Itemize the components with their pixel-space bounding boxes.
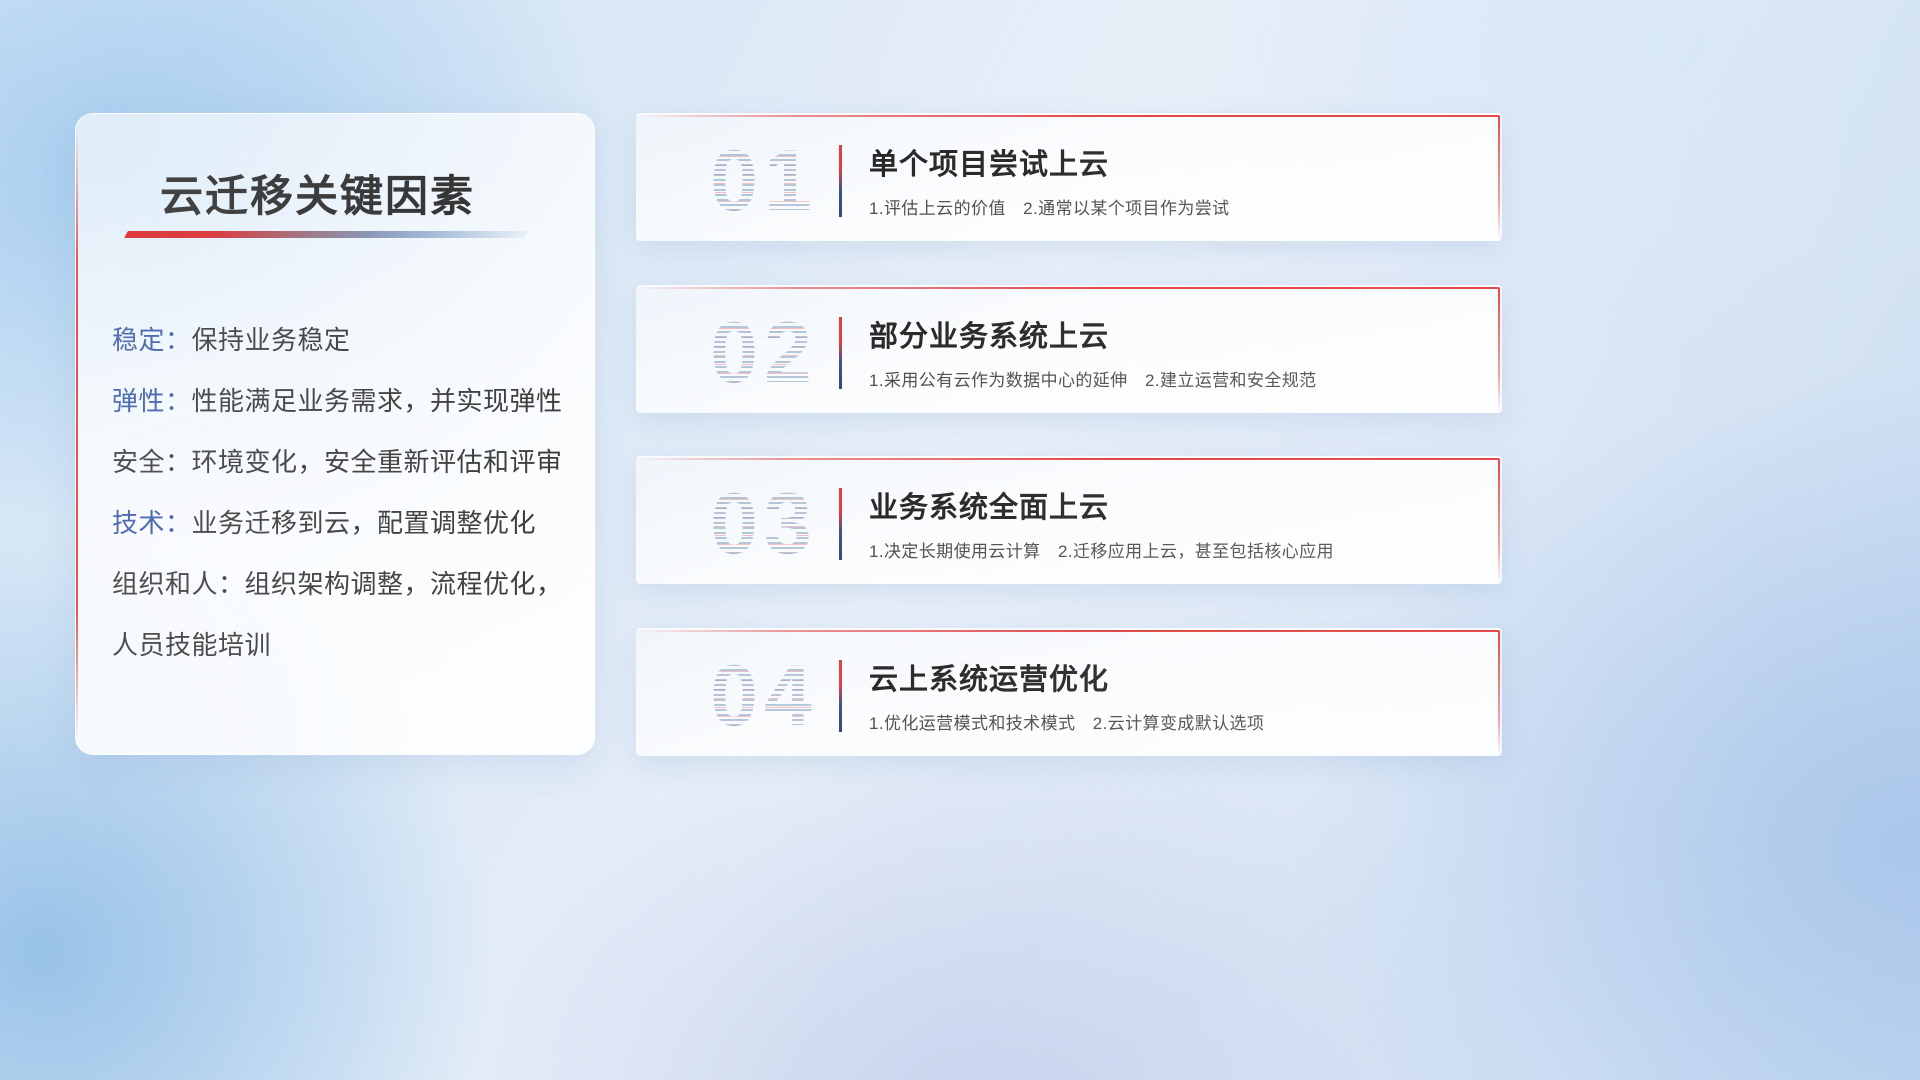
factor-text: 组织架构调整，流程优化， (245, 569, 563, 599)
step-title: 单个项目尝试上云 (869, 141, 1109, 183)
factor-label: 弹性： (112, 386, 192, 416)
factor-text: 保持业务稳定 (192, 325, 351, 355)
step-description: 1.采用公有云作为数据中心的延伸 2.建立运营和安全规范 (869, 366, 1317, 391)
page-title: 云迁移关键因素 (160, 162, 475, 224)
factor-label: 稳定： (112, 325, 192, 355)
step-divider-accent (839, 145, 842, 217)
list-item: 安全：环境变化，安全重新评估和评审 (112, 432, 568, 493)
title-underline-accent (124, 231, 528, 238)
key-factors-panel: 云迁移关键因素 稳定：保持业务稳定 弹性：性能满足业务需求，并实现弹性 安全：环… (75, 113, 595, 755)
key-factors-list: 稳定：保持业务稳定 弹性：性能满足业务需求，并实现弹性 安全：环境变化，安全重新… (112, 310, 568, 676)
factor-text: 人员技能培训 (112, 630, 271, 660)
step-card[interactable]: 03 03 业务系统全面上云 1.决定长期使用云计算 2.迁移应用上云，甚至包括… (636, 456, 1502, 584)
slide-canvas: 云迁移关键因素 稳定：保持业务稳定 弹性：性能满足业务需求，并实现弹性 安全：环… (0, 0, 1920, 1080)
step-title: 业务系统全面上云 (869, 484, 1109, 526)
step-description: 1.优化运营模式和技术模式 2.云计算变成默认选项 (869, 709, 1264, 734)
list-item-continuation: 人员技能培训 (112, 615, 568, 676)
step-divider-accent (839, 317, 842, 389)
step-card[interactable]: 01 01 单个项目尝试上云 1.评估上云的价值 2.通常以某个项目作为尝试 (636, 113, 1502, 241)
step-number: 02 (674, 301, 854, 405)
factor-label: 安全： (112, 447, 192, 477)
list-item: 稳定：保持业务稳定 (112, 310, 568, 371)
step-card[interactable]: 02 02 部分业务系统上云 1.采用公有云作为数据中心的延伸 2.建立运营和安… (636, 285, 1502, 413)
step-number: 04 (674, 644, 854, 748)
step-divider-accent (839, 660, 842, 732)
factor-text: 性能满足业务需求，并实现弹性 (192, 386, 563, 416)
step-description: 1.决定长期使用云计算 2.迁移应用上云，甚至包括核心应用 (869, 537, 1334, 562)
step-number: 03 (674, 472, 854, 576)
list-item: 弹性：性能满足业务需求，并实现弹性 (112, 371, 568, 432)
list-item: 技术：业务迁移到云，配置调整优化 (112, 493, 568, 554)
step-divider-accent (839, 488, 842, 560)
step-card[interactable]: 04 04 云上系统运营优化 1.优化运营模式和技术模式 2.云计算变成默认选项 (636, 628, 1502, 756)
list-item: 组织和人：组织架构调整，流程优化， (112, 554, 568, 615)
step-number: 01 (674, 129, 854, 233)
factor-label: 技术： (112, 508, 192, 538)
step-title: 云上系统运营优化 (869, 656, 1109, 698)
factor-text: 业务迁移到云，配置调整优化 (192, 508, 537, 538)
step-description: 1.评估上云的价值 2.通常以某个项目作为尝试 (869, 194, 1230, 219)
factor-text: 环境变化，安全重新评估和评审 (192, 447, 563, 477)
step-title: 部分业务系统上云 (869, 313, 1109, 355)
factor-label: 组织和人： (112, 569, 245, 599)
